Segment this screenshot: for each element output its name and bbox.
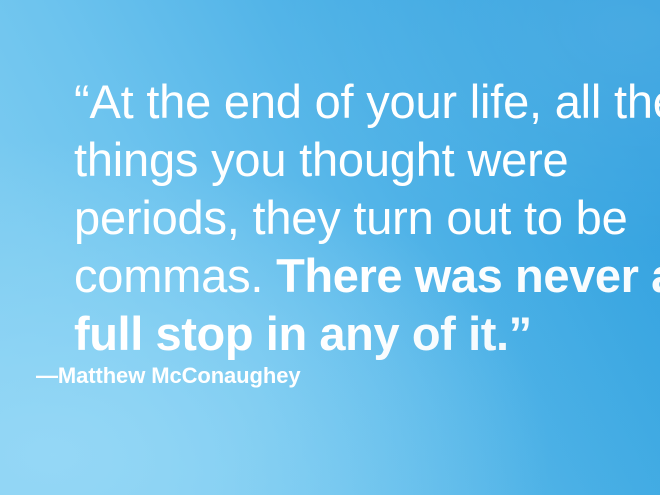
closing-quotation-mark: ” [509,307,532,360]
opening-quotation-mark: “ [74,75,89,128]
quote-attribution: —Matthew McConaughey [36,362,300,390]
quote-text: “At the end of your life, all the things… [74,73,660,363]
quote-card: “At the end of your life, all the things… [0,0,660,495]
